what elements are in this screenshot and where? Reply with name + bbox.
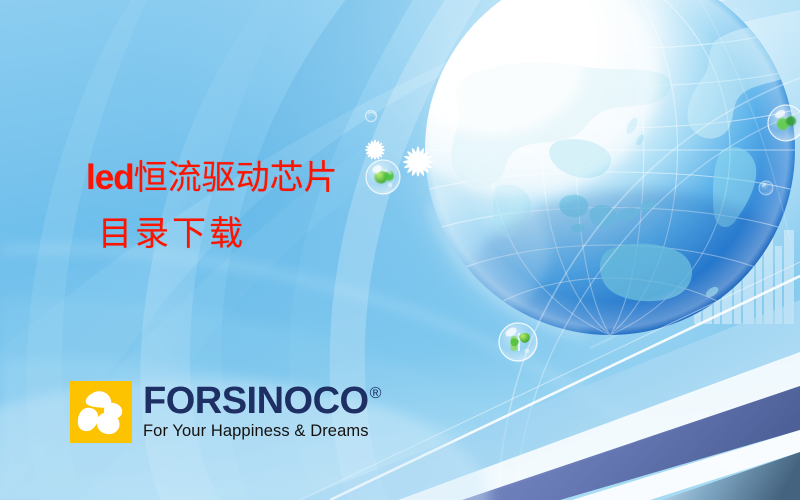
headline-latin-word: led [86,158,134,197]
headline-block: led恒流驱动芯片 目录下载 [86,160,506,252]
logo-wordmark: FORSINOCO ® [143,384,381,419]
logo-tagline: For Your Happiness & Dreams [143,422,381,440]
logo-mark [70,381,132,443]
four-petal-flower-icon [70,381,132,443]
logo-wordmark-text: FORSINOCO [143,384,369,419]
headline-line-1: led恒流驱动芯片 [86,160,506,196]
logo-text-block: FORSINOCO ® For Your Happiness & Dreams [143,381,381,443]
forsinoco-logo[interactable]: FORSINOCO ® For Your Happiness & Dreams [70,381,381,443]
headline-line-2: 目录下载 [86,218,506,252]
promotional-banner: led恒流驱动芯片 目录下载 FORSINOCO ® [0,0,800,500]
registered-trademark-symbol: ® [370,386,381,402]
headline-cjk-part: 恒流驱动芯片 [134,160,338,197]
